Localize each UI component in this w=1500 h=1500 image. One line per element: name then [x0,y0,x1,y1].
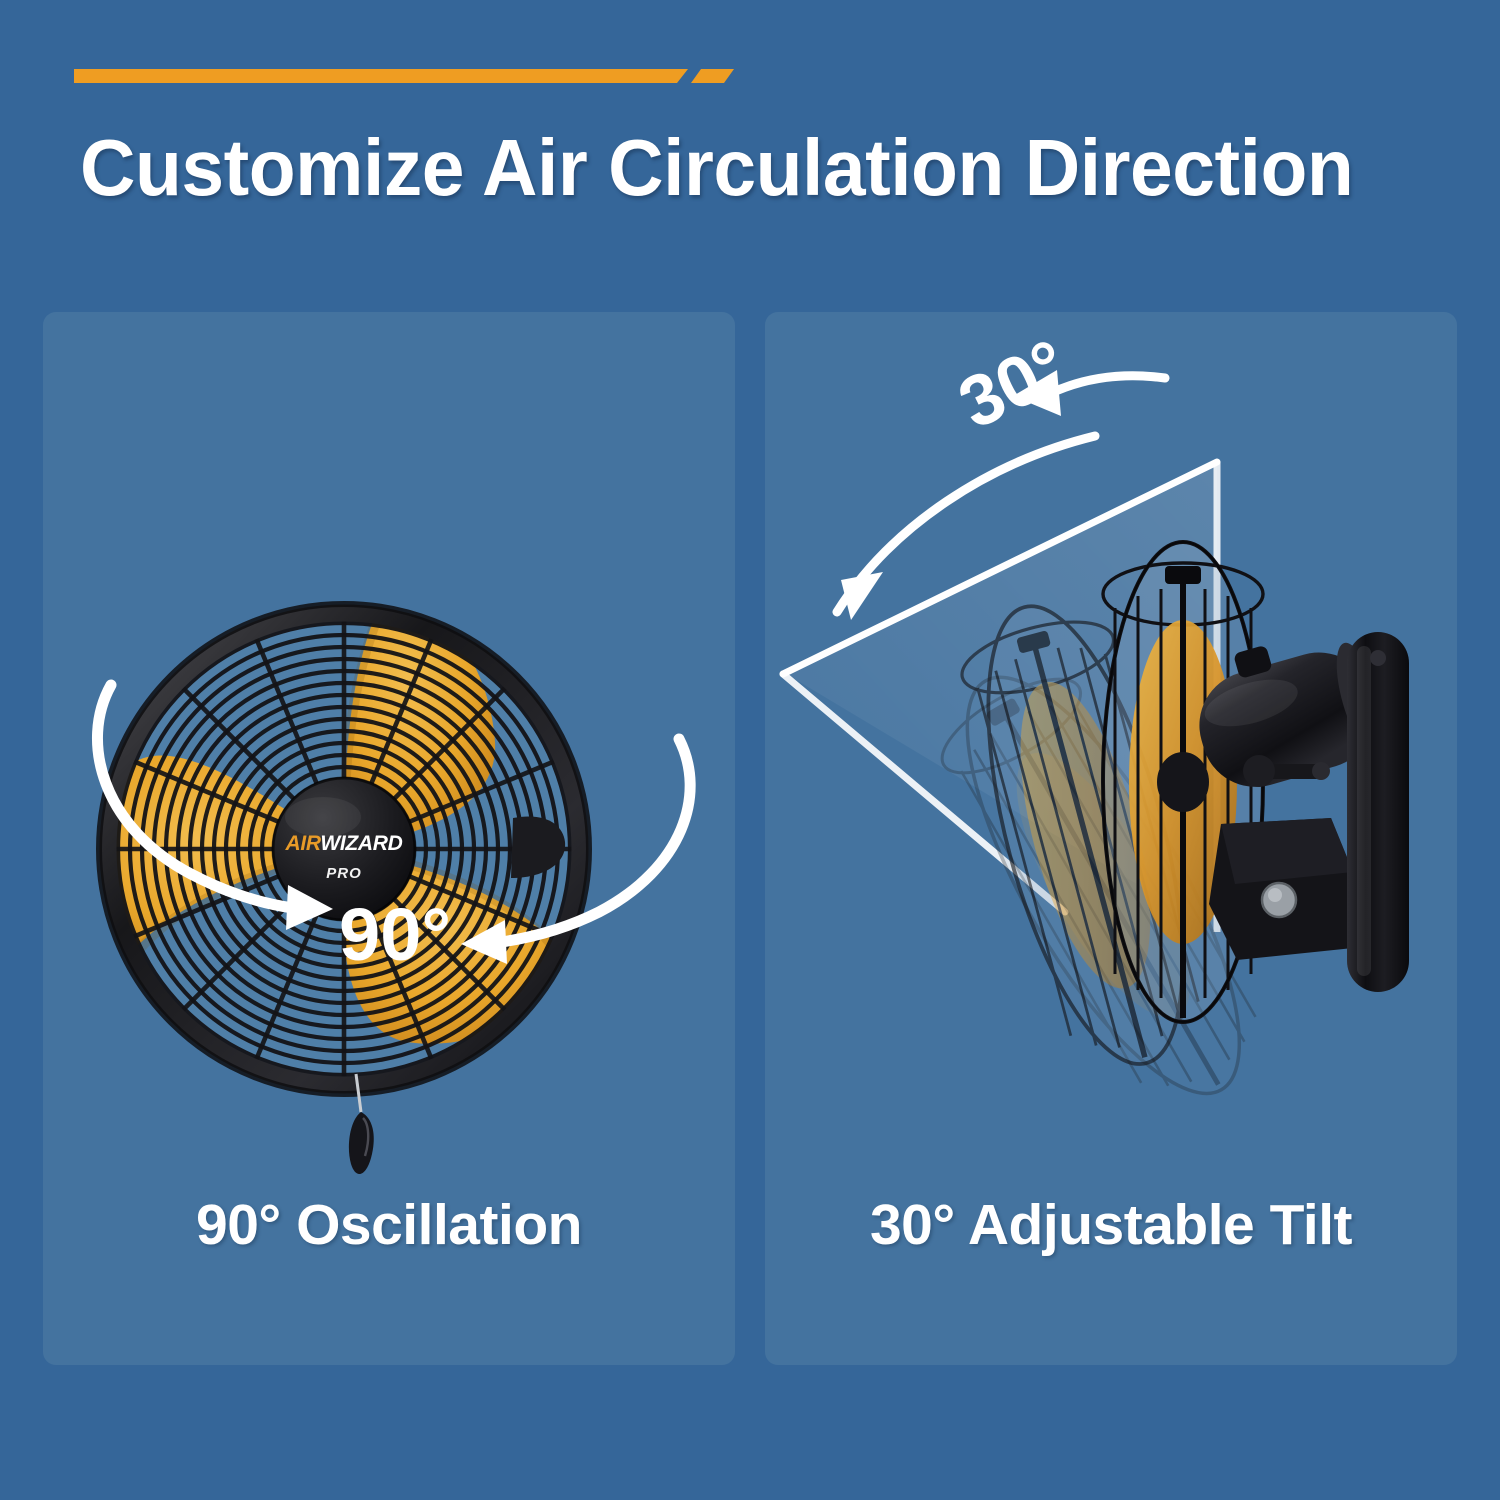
page-title: Customize Air Circulation Direction [80,128,1405,208]
wall-fan-tilt-side-view: 30° [765,312,1457,1192]
brand-logo-primary: AIR [284,832,321,855]
svg-text:AIRWIZARD: AIRWIZARD [284,832,402,855]
accent-bar-short [691,69,734,83]
brand-logo-secondary: WIZARD [320,832,402,855]
wall-fan-front-view: AIRWIZARD PRO 90° [43,312,735,1192]
feature-card-oscillation: AIRWIZARD PRO 90° 90° O [43,312,735,1365]
hub-highlight [285,797,361,837]
feature-card-tilt: 30° 30° Adjustable Tilt [765,312,1457,1365]
orange-accent-rule [74,66,734,84]
fan-assembly: AIRWIZARD PRO [90,577,589,1174]
tilt-angle-label: 30° [947,325,1080,445]
card-caption-oscillation: 90° Oscillation [43,1192,735,1258]
accent-bar-long [74,69,688,83]
card-caption-tilt: 30° Adjustable Tilt [765,1192,1457,1258]
tilt-arrow-head-left [841,572,883,620]
wall-mount-bracket [1209,818,1353,960]
wall-plate [1347,632,1409,992]
oscillation-angle-label: 90° [339,893,451,976]
brand-logo-suffix: PRO [326,865,362,882]
